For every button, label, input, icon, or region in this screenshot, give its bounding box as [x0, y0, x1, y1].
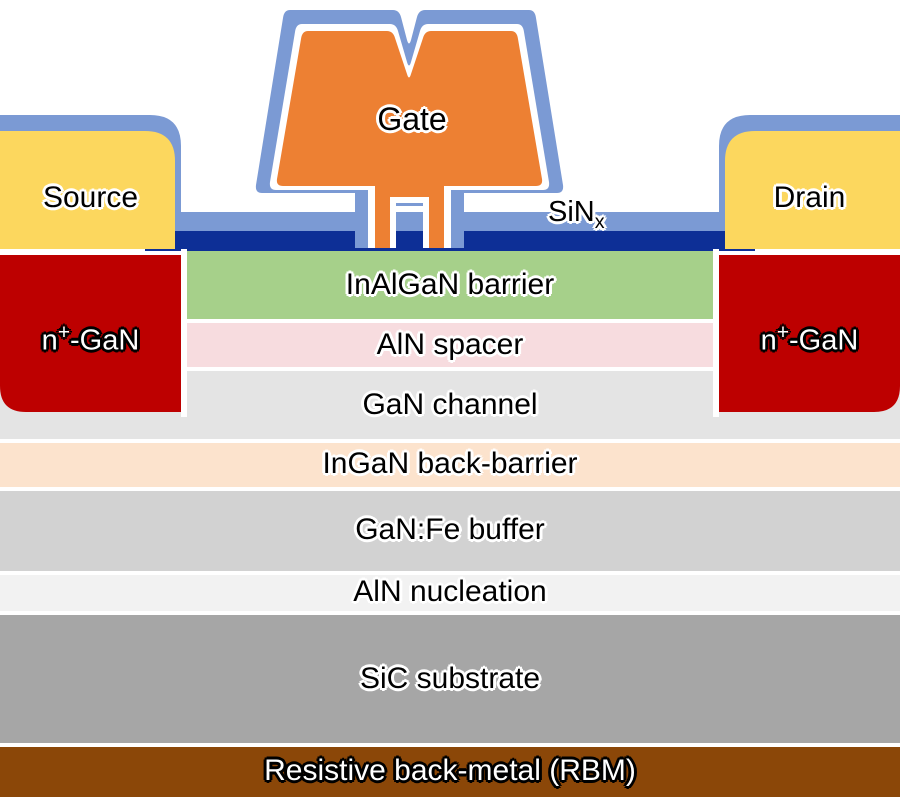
ohmic-contact-source — [0, 255, 181, 412]
electrode-pad-drain — [725, 131, 900, 249]
ohmic-contact-drain — [719, 255, 900, 412]
device-stack-drawing — [0, 0, 900, 797]
device-cross-section-figure: Source Drain Gate n+-GaN n+-GaN SiNx InA… — [0, 0, 900, 797]
layer-rect-sic-substrate — [0, 615, 900, 743]
ohmic-gap-drain — [713, 249, 719, 417]
layer-rect-aln-spacer — [181, 323, 719, 367]
layer-rect-ingan-back-barrier — [0, 443, 900, 487]
ohmic-gap-source — [181, 249, 187, 417]
layer-rect-aln-nucleation — [0, 575, 900, 611]
layer-rect-resistive-back-metal — [0, 747, 900, 797]
electrode-pad-source — [0, 131, 175, 249]
layer-rect-inalgan-barrier — [181, 251, 719, 319]
layer-rect-gan-fe-buffer — [0, 491, 900, 571]
